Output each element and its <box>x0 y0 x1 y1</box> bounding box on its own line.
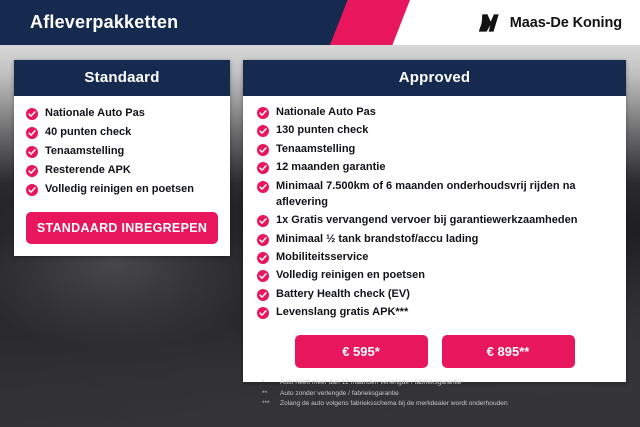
footnote-row: ***Zolang de auto volgens fabrieksschema… <box>262 399 622 410</box>
feature-label: Volledig reinigen en poetsen <box>276 268 425 284</box>
check-circle-icon <box>257 215 269 227</box>
feature-label: Volledig reinigen en poetsen <box>45 182 194 198</box>
feature-item: 1x Gratis vervangend vervoer bij garanti… <box>257 213 612 229</box>
advertisement-panel: Afleverpakketten Maas-De Koning Standaar… <box>0 0 640 427</box>
brand-lockup: Maas-De Koning <box>476 0 622 45</box>
check-circle-icon <box>26 165 38 177</box>
feature-list-standaard: Nationale Auto Pas40 punten checkTenaams… <box>26 106 218 198</box>
brand-name: Maas-De Koning <box>510 15 622 31</box>
feature-item: Volledig reinigen en poetsen <box>26 182 218 198</box>
feature-label: Tenaamstelling <box>45 144 124 160</box>
banner-title: Afleverpakketten <box>30 0 178 45</box>
price-button-2[interactable]: € 895** <box>442 335 575 368</box>
feature-label: Tenaamstelling <box>276 142 355 158</box>
check-circle-icon <box>26 108 38 120</box>
feature-label: Mobiliteitsservice <box>276 250 368 266</box>
check-circle-icon <box>26 146 38 158</box>
check-circle-icon <box>26 127 38 139</box>
footnote-marker: ** <box>262 389 274 400</box>
feature-item: Levenslang gratis APK*** <box>257 305 612 321</box>
feature-label: Nationale Auto Pas <box>276 105 376 121</box>
feature-label: 1x Gratis vervangend vervoer bij garanti… <box>276 213 577 229</box>
check-circle-icon <box>257 234 269 246</box>
feature-label: 40 punten check <box>45 125 131 141</box>
feature-item: 40 punten check <box>26 125 218 141</box>
card-approved-body: Nationale Auto Pas130 punten checkTenaam… <box>243 96 626 382</box>
footnote-row: **Auto zonder verlengde / fabrieksgarant… <box>262 389 622 400</box>
feature-item: Minimaal 7.500km of 6 maanden onderhouds… <box>257 179 612 211</box>
feature-item: Battery Health check (EV) <box>257 287 612 303</box>
feature-item: Mobiliteitsservice <box>257 250 612 266</box>
footnote-marker: *** <box>262 399 274 410</box>
feature-list-approved: Nationale Auto Pas130 punten checkTenaam… <box>257 105 612 321</box>
card-approved-title: Approved <box>243 60 626 96</box>
feature-item: Nationale Auto Pas <box>257 105 612 121</box>
feature-item: Tenaamstelling <box>26 144 218 160</box>
feature-label: Minimaal ½ tank brandstof/accu lading <box>276 232 478 248</box>
footnote-text: Auto zonder verlengde / fabrieksgarantie <box>280 389 622 400</box>
check-circle-icon <box>257 307 269 319</box>
feature-label: Battery Health check (EV) <box>276 287 410 303</box>
feature-item: Resterende APK <box>26 163 218 179</box>
feature-item: Tenaamstelling <box>257 142 612 158</box>
maas-de-koning-m-logo-icon <box>476 12 502 34</box>
feature-label: Minimaal 7.500km of 6 maanden onderhouds… <box>276 179 612 211</box>
footnote-row: *Auto heeft meer dan 12 maanden verlengd… <box>262 378 622 389</box>
feature-label: 12 maanden garantie <box>276 160 385 176</box>
card-standaard-title: Standaard <box>14 60 230 96</box>
footnotes: *Auto heeft meer dan 12 maanden verlengd… <box>262 378 622 410</box>
feature-label: Levenslang gratis APK*** <box>276 305 408 321</box>
top-banner: Afleverpakketten Maas-De Koning <box>0 0 640 45</box>
check-circle-icon <box>257 162 269 174</box>
check-circle-icon <box>26 184 38 196</box>
feature-item: Nationale Auto Pas <box>26 106 218 122</box>
feature-item: 12 maanden garantie <box>257 160 612 176</box>
feature-item: 130 punten check <box>257 123 612 139</box>
feature-item: Minimaal ½ tank brandstof/accu lading <box>257 232 612 248</box>
price-button-row: € 595*€ 895** <box>257 335 612 370</box>
feature-label: Resterende APK <box>45 163 131 179</box>
footnote-text: Zolang de auto volgens fabrieksschema bi… <box>280 399 622 410</box>
footnote-marker: * <box>262 378 274 389</box>
check-circle-icon <box>257 252 269 264</box>
check-circle-icon <box>257 270 269 282</box>
check-circle-icon <box>257 181 269 193</box>
check-circle-icon <box>257 125 269 137</box>
feature-label: 130 punten check <box>276 123 368 139</box>
footnote-text: Auto heeft meer dan 12 maanden verlengde… <box>280 378 622 389</box>
check-circle-icon <box>257 144 269 156</box>
card-approved: Approved Nationale Auto Pas130 punten ch… <box>243 60 626 382</box>
price-button-1[interactable]: € 595* <box>295 335 428 368</box>
card-standaard-body: Nationale Auto Pas40 punten checkTenaams… <box>14 96 230 256</box>
check-circle-icon <box>257 289 269 301</box>
feature-label: Nationale Auto Pas <box>45 106 145 122</box>
card-standaard: Standaard Nationale Auto Pas40 punten ch… <box>14 60 230 256</box>
standaard-inbegrepen-button[interactable]: STANDAARD INBEGREPEN <box>26 212 218 244</box>
check-circle-icon <box>257 107 269 119</box>
feature-item: Volledig reinigen en poetsen <box>257 268 612 284</box>
